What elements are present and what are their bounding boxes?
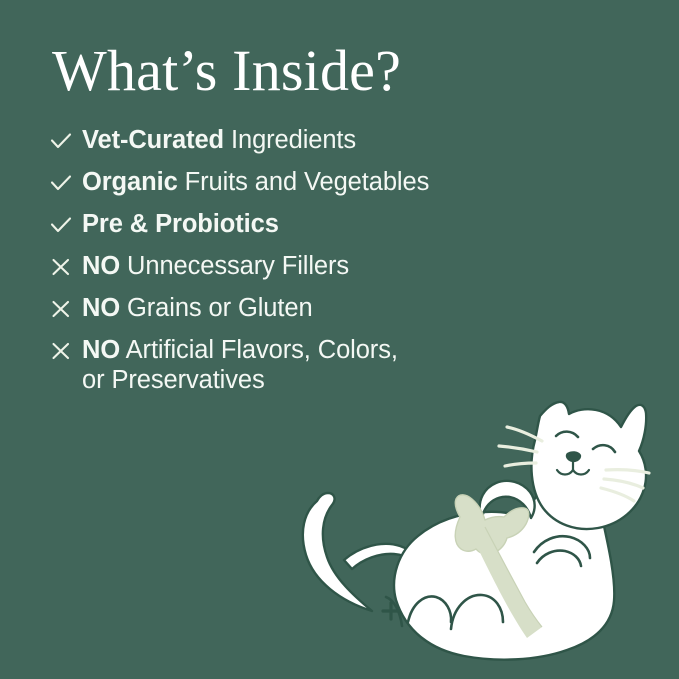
list-item: NO Unnecessary Fillers	[48, 250, 518, 292]
list-item-text: NO Unnecessary Fillers	[82, 250, 349, 281]
promo-card: What’s Inside? Vet-Curated Ingredients O…	[0, 0, 679, 679]
list-item-bold: Organic	[82, 168, 178, 196]
list-item-rest: Ingredients	[224, 126, 356, 154]
check-icon	[48, 208, 82, 240]
list-item-bold: NO	[82, 336, 120, 364]
list-item: Pre & Probiotics	[48, 208, 518, 250]
list-item-bold: Vet-Curated	[82, 126, 224, 154]
list-item: NO Artificial Flavors, Colors,or Preserv…	[48, 334, 518, 395]
list-item-rest: Grains or Gluten	[120, 294, 312, 322]
list-item-rest: Unnecessary Fillers	[120, 252, 349, 280]
list-item-bold: Pre & Probiotics	[82, 210, 279, 238]
list-item-text: NO Grains or Gluten	[82, 292, 313, 323]
list-item: Organic Fruits and Vegetables	[48, 166, 518, 208]
check-icon	[48, 166, 82, 198]
list-item-rest: Artificial Flavors, Colors,	[120, 336, 398, 364]
cat-illustration	[284, 400, 679, 679]
cross-icon	[48, 334, 82, 366]
cross-icon	[48, 250, 82, 282]
list-item-text: Organic Fruits and Vegetables	[82, 166, 429, 197]
list-item-bold: NO	[82, 294, 120, 322]
list-item-line2: or Preservatives	[82, 366, 265, 394]
page-title: What’s Inside?	[52, 38, 401, 104]
list-item: Vet-Curated Ingredients	[48, 124, 518, 166]
features-list: Vet-Curated Ingredients Organic Fruits a…	[48, 124, 518, 395]
list-item-rest: Fruits and Vegetables	[178, 168, 430, 196]
list-item-text: Vet-Curated Ingredients	[82, 124, 356, 155]
check-icon	[48, 124, 82, 156]
list-item: NO Grains or Gluten	[48, 292, 518, 334]
list-item-text: NO Artificial Flavors, Colors,or Preserv…	[82, 334, 398, 395]
cross-icon	[48, 292, 82, 324]
list-item-bold: NO	[82, 252, 120, 280]
list-item-text: Pre & Probiotics	[82, 208, 279, 239]
